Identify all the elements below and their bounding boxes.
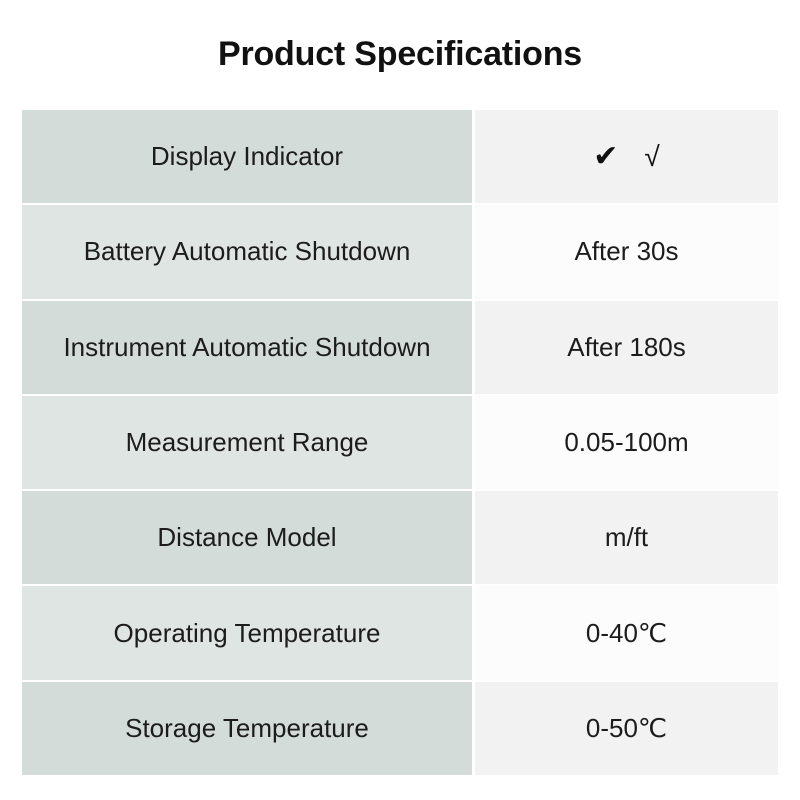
table-row: Measurement Range 0.05-100m xyxy=(22,396,778,489)
spec-label-display-indicator: Display Indicator xyxy=(22,110,472,203)
spec-label-storage-temperature: Storage Temperature xyxy=(22,682,472,775)
table-row: Storage Temperature 0-50℃ xyxy=(22,682,778,775)
table-row: Distance Model m/ft xyxy=(22,491,778,584)
table-row: Instrument Automatic Shutdown After 180s xyxy=(22,301,778,394)
check-thin-icon: √ xyxy=(644,143,659,171)
spec-label-operating-temperature: Operating Temperature xyxy=(22,586,472,679)
spec-label-instrument-automatic-shutdown: Instrument Automatic Shutdown xyxy=(22,301,472,394)
table-row: Display Indicator ✔ √ xyxy=(22,110,778,203)
spec-value-instrument-automatic-shutdown: After 180s xyxy=(475,301,778,394)
spec-label-distance-model: Distance Model xyxy=(22,491,472,584)
spec-value-distance-model: m/ft xyxy=(475,491,778,584)
spec-value-display-indicator: ✔ √ xyxy=(475,110,778,203)
table-row: Operating Temperature 0-40℃ xyxy=(22,586,778,679)
check-heavy-icon: ✔ xyxy=(593,142,618,172)
spec-value-measurement-range: 0.05-100m xyxy=(475,396,778,489)
spec-value-storage-temperature: 0-50℃ xyxy=(475,682,778,775)
spec-value-battery-automatic-shutdown: After 30s xyxy=(475,205,778,298)
spec-label-measurement-range: Measurement Range xyxy=(22,396,472,489)
table-row: Battery Automatic Shutdown After 30s xyxy=(22,205,778,298)
page-title: Product Specifications xyxy=(0,36,800,73)
spec-label-battery-automatic-shutdown: Battery Automatic Shutdown xyxy=(22,205,472,298)
specifications-table: Display Indicator ✔ √ Battery Automatic … xyxy=(22,110,778,775)
product-specifications-page: Product Specifications Display Indicator… xyxy=(0,0,800,800)
spec-value-operating-temperature: 0-40℃ xyxy=(475,586,778,679)
